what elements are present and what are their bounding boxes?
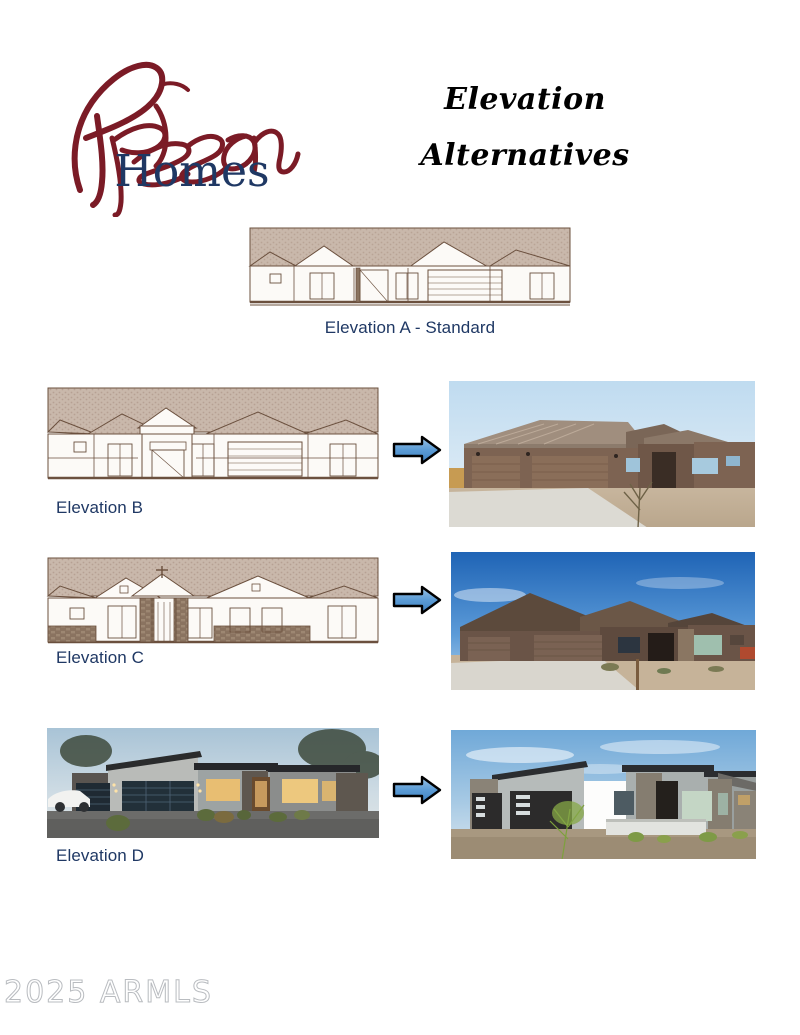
logo-artwork: Homes xyxy=(52,42,302,217)
page-title-line-1: Elevation xyxy=(360,72,690,128)
elevation-b-photo xyxy=(448,380,756,528)
logo-wordmark: Homes xyxy=(114,146,269,197)
caption-elevation-c: Elevation C xyxy=(56,648,144,668)
arrow-right-icon-d xyxy=(392,774,442,806)
elevation-c-line-drawing xyxy=(46,556,380,650)
caption-elevation-b: Elevation B xyxy=(56,498,143,518)
page-title-line-2: Alternatives xyxy=(360,128,690,184)
elevation-d-rendering xyxy=(46,727,380,839)
ripson-homes-logo: Homes xyxy=(52,42,302,217)
arrow-right-icon-b xyxy=(392,434,442,466)
caption-elevation-d: Elevation D xyxy=(56,846,144,866)
document-page: Homes Elevation Alternatives xyxy=(0,0,800,1035)
elevation-b-line-drawing xyxy=(46,386,380,486)
elevation-d-photo xyxy=(450,729,757,860)
elevation-a-line-drawing xyxy=(248,226,572,312)
armls-watermark: 2025 ARMLS xyxy=(4,975,213,1010)
page-title: Elevation Alternatives xyxy=(360,72,690,184)
caption-elevation-a: Elevation A - Standard xyxy=(240,318,580,338)
elevation-c-photo xyxy=(450,551,756,691)
arrow-right-icon-c xyxy=(392,584,442,616)
